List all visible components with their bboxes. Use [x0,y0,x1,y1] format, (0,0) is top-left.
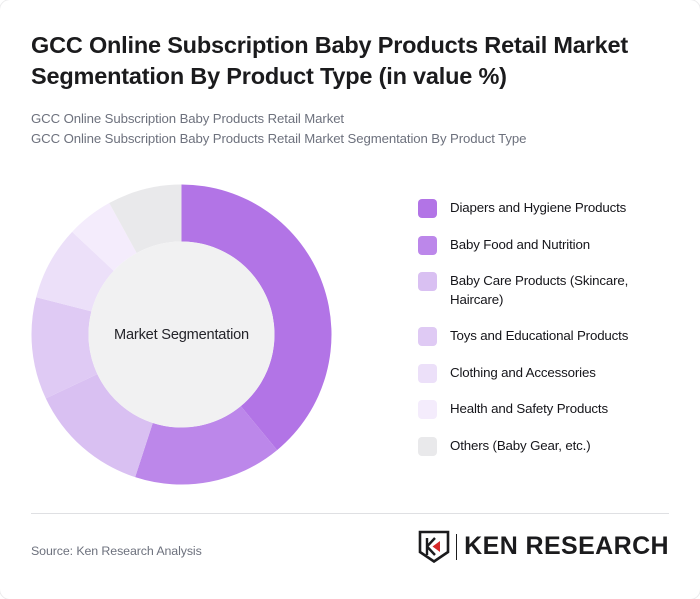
donut-hole [89,242,275,428]
legend-item[interactable]: Toys and Educational Products [418,326,680,346]
legend-swatch-icon [418,272,437,291]
ken-research-logo-icon [418,530,450,563]
subtitle-line-2: GCC Online Subscription Baby Products Re… [31,129,669,149]
legend-item[interactable]: Others (Baby Gear, etc.) [418,436,680,456]
legend-swatch-icon [418,236,437,255]
chart-body: Market Segmentation Diapers and Hygiene … [0,178,700,498]
legend-item-label: Health and Safety Products [450,399,608,418]
subtitle-line-1: GCC Online Subscription Baby Products Re… [31,109,669,129]
legend-item-label: Baby Food and Nutrition [450,235,590,254]
brand-triangle-icon [433,541,441,552]
legend-item-label: Others (Baby Gear, etc.) [450,436,591,455]
donut-chart: Market Segmentation [31,184,332,485]
legend-item[interactable]: Diapers and Hygiene Products [418,198,680,218]
legend-swatch-icon [418,437,437,456]
legend-item[interactable]: Clothing and Accessories [418,363,680,383]
brand-name: KEN RESEARCH [464,532,669,561]
legend-item[interactable]: Health and Safety Products [418,399,680,419]
subtitle-block: GCC Online Subscription Baby Products Re… [31,109,669,149]
chart-card: GCC Online Subscription Baby Products Re… [0,0,700,599]
legend-swatch-icon [418,327,437,346]
source-note: Source: Ken Research Analysis [31,544,202,558]
donut-chart-svg [31,184,332,485]
brand-logo: KEN RESEARCH [418,530,669,563]
chart-legend: Diapers and Hygiene ProductsBaby Food an… [418,198,680,472]
legend-swatch-icon [418,364,437,383]
legend-item[interactable]: Baby Food and Nutrition [418,235,680,255]
legend-item[interactable]: Baby Care Products (Skincare, Haircare) [418,271,680,310]
page-title: GCC Online Subscription Baby Products Re… [31,30,669,93]
brand-divider [456,534,457,560]
legend-item-label: Toys and Educational Products [450,326,628,345]
legend-item-label: Diapers and Hygiene Products [450,198,626,217]
legend-swatch-icon [418,400,437,419]
legend-item-label: Clothing and Accessories [450,363,596,382]
legend-swatch-icon [418,199,437,218]
legend-item-label: Baby Care Products (Skincare, Haircare) [450,271,680,310]
footer-divider [31,513,669,514]
chart-header: GCC Online Subscription Baby Products Re… [31,30,669,149]
